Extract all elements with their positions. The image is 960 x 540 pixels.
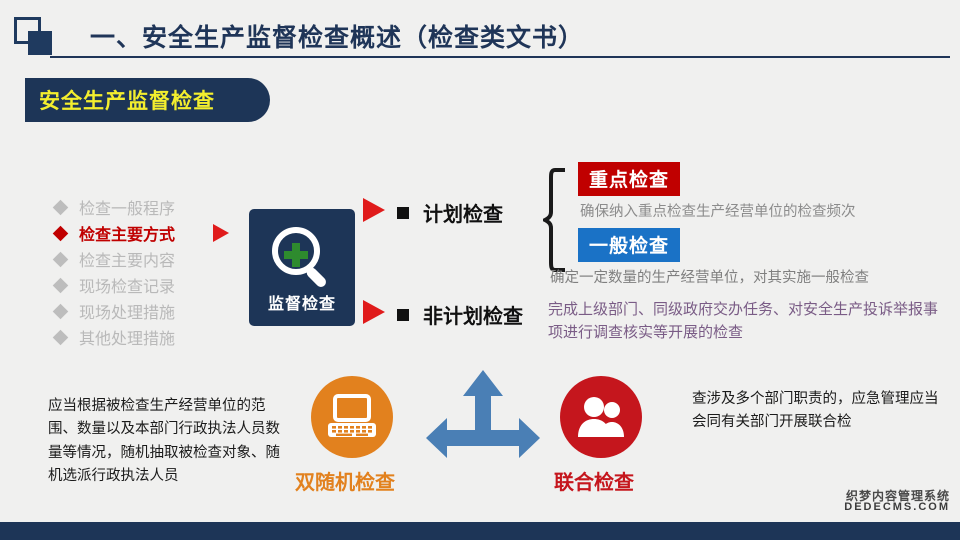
sidebar-item-label: 现场检查记录 [79,273,175,297]
footer-bar [0,522,960,540]
supervision-card-label: 监督检查 [249,290,355,314]
sidebar-item-label: 检查主要内容 [79,247,175,271]
section-badge: 安全生产监督检查 [25,78,270,122]
supervision-card[interactable]: 监督检查 [249,209,355,326]
tri-direction-arrow-icon [424,368,542,468]
diamond-bullet-icon [53,225,69,241]
joint-check-label: 联合检查 [554,466,634,495]
branch-label: 非计划检查 [423,300,523,329]
arrow-right-icon [363,198,385,222]
sidebar-item-1[interactable]: 检查主要方式 [55,221,175,245]
sidebar-item-4[interactable]: 现场处理措施 [55,299,175,323]
diamond-bullet-icon [53,199,69,215]
diamond-bullet-icon [53,303,69,319]
key-check-description: 确保纳入重点检查生产经营单位的检查频次 [580,200,856,221]
status-badge-key: 重点检查 [578,162,680,196]
people-icon [575,396,627,438]
page-title: 一、安全生产监督检查概述（检查类文书） [90,18,584,54]
sidebar-item-5[interactable]: 其他处理措施 [55,325,175,349]
arrow-right-icon [363,300,385,324]
bottom-right-text: 查涉及多个部门职责的，应急管理应当会同有关部门开展联合检 [692,388,942,435]
branch-label: 计划检查 [423,198,503,227]
sidebar-item-label: 其他处理措施 [79,325,175,349]
sidebar-item-label: 现场处理措施 [79,299,175,323]
double-random-label: 双随机检查 [295,466,395,495]
branch-planned[interactable]: 计划检查 [397,198,503,227]
sidebar-item-label: 检查一般程序 [79,195,175,219]
square-filled [28,31,52,55]
status-badge-general: 一般检查 [578,228,680,262]
magnifier-plus-icon [268,223,336,291]
sidebar-item-label: 检查主要方式 [79,221,175,245]
branch-unplanned[interactable]: 非计划检查 [397,300,523,329]
diamond-bullet-icon [53,329,69,345]
curly-brace-icon [543,168,569,272]
square-bullet-icon [397,309,409,321]
computer-icon-circle[interactable] [311,376,393,458]
section-badge-label: 安全生产监督检查 [39,85,215,115]
nav-pointer-arrow-icon [213,224,229,242]
bottom-left-text: 应当根据被检查生产经营单位的范围、数量以及本部门行政执法人员数量等情况，随机抽取… [48,395,288,489]
general-check-description: 确定一定数量的生产经营单位，对其实施一般检查 [550,266,869,287]
watermark-en: DEDECMS.COM [844,502,950,514]
sidebar-item-2[interactable]: 检查主要内容 [55,247,175,271]
square-bullet-icon [397,207,409,219]
people-icon-circle[interactable] [560,376,642,458]
nav-list: 检查一般程序 检查主要方式 检查主要内容 现场检查记录 现场处理措施 其他处理措… [55,195,175,351]
slide-canvas: 一、安全生产监督检查概述（检查类文书） 安全生产监督检查 检查一般程序 检查主要… [0,0,960,540]
sidebar-item-0[interactable]: 检查一般程序 [55,195,175,219]
header-divider [50,56,950,58]
computer-icon [326,394,378,440]
diamond-bullet-icon [53,251,69,267]
double-square-icon [14,17,58,59]
unplanned-description: 完成上级部门、同级政府交办任务、对安全生产投诉举报事项进行调查核实等开展的检查 [548,298,948,345]
watermark: 织梦内容管理系统 DEDECMS.COM [844,490,950,514]
diamond-bullet-icon [53,277,69,293]
sidebar-item-3[interactable]: 现场检查记录 [55,273,175,297]
